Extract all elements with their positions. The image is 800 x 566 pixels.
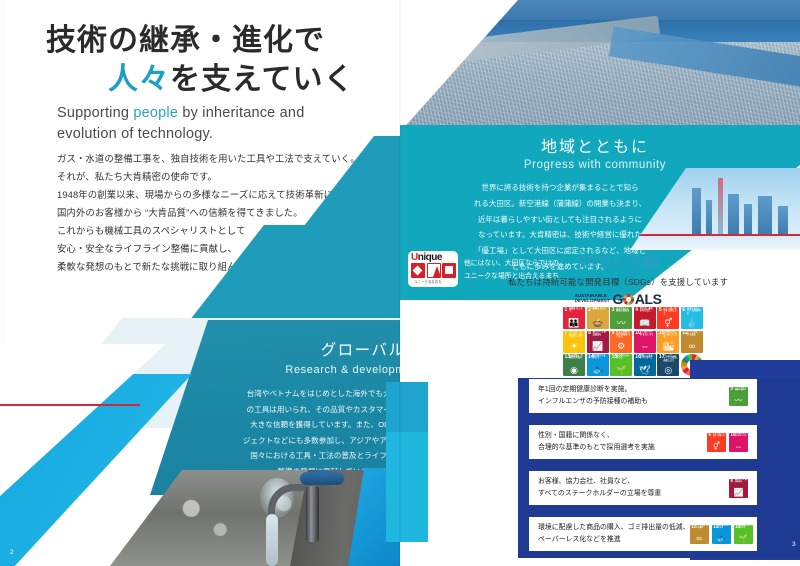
sdg-commitment-line: 年1回の定期健康診断を実施。 [538,384,729,396]
page-number-left: 2 [10,549,14,556]
teal-side-strip-2 [386,432,428,542]
sdg-goal-10-icon: 10人や国の不平等 をなくそう⇔ [729,433,748,452]
headline-line-2: 人々を支えていく [46,60,376,99]
unique-logo-icons [411,263,456,278]
sdg-goal-15-icon: 15陸の豊かさも 守ろう🌱 [610,354,632,376]
sdgs-header: SDGs 活動 私たちは持続可能な開発目標（SDGs）を支援しています SUST… [488,250,748,307]
diamond-icon [411,263,425,278]
sdg-goal-14-icon: 14海の豊かさを 守ろう🐟 [712,525,731,544]
unique-ota-logo: Unique ユニークなおおた [408,251,458,287]
global-body-line: の工具は用いられ、その品質やカスタマイズ性で [180,402,400,418]
sdg-goal-glyph: ∞ [690,535,709,543]
sdg-goal-8-icon: 8働きがいも 経済成長も📈 [587,331,609,353]
sdg-commitment-icons: 5ジェンダー平等を 実現しよう⚥10人や国の不平等 をなくそう⇔ [707,433,757,452]
sdg-goal-glyph: 〰 [729,397,748,405]
sdg-goal-glyph: 🐟 [712,535,731,543]
sdg-goal-6-icon: 6安全な水とトイレ を世界中に💧 [681,307,703,329]
sdg-goal-label: 陸の豊かさも 守ろう [616,355,631,360]
subhead-line-2: evolution of technology. [57,124,377,145]
sdg-goal-3-icon: 3すべての人に 健康と福祉を〰 [729,387,748,406]
sdg-goal-number: 8 [588,331,591,336]
sdg-goal-number: 3 [612,308,615,313]
sdg-goal-number: 5 [709,433,711,437]
sdgs-logo-line-2: DEVELOPMENT [575,299,610,304]
sdg-goal-glyph: 🌱 [734,535,753,543]
subheading-english: Supporting people by inheritance and evo… [57,103,377,144]
sdg-goal-number: 9 [612,331,615,336]
skyline-building [706,200,712,234]
sdg-goal-14-icon: 14海の豊かさを 守ろう🐟 [587,354,609,376]
sdg-goal-glyph: 📖 [634,319,656,328]
sdg-goal-label: 安全な水とトイレ を世界中に [687,308,702,315]
sdg-goal-number: 1 [565,308,568,313]
body-line: ガス・水道の整備工事を、独自技術を用いた工具や工法で支えていく。 [57,150,387,168]
sdg-goal-8-icon: 8働きがいも 経済成長も📈 [729,479,748,498]
sdg-goal-number: 4 [635,308,638,313]
water-stream [266,514,278,566]
sdg-goal-label: 住み続けられる まちづくりを [663,331,678,338]
sdg-goal-15-icon: 15陸の豊かさも 守ろう🌱 [734,525,753,544]
sdg-goal-label: ジェンダー平等を 実現しよう [663,308,678,315]
sdg-goal-glyph: 🏙 [657,342,679,351]
sdg-goal-glyph: 🐟 [587,366,609,375]
sdg-goal-16-icon: 16平和と公正を すべての人に🕊 [634,354,656,376]
sdg-commitment-icons: 3すべての人に 健康と福祉を〰 [729,387,757,406]
unique-logo-rest: nique [418,252,442,263]
sdg-goal-glyph: ◎ [657,366,679,375]
sdg-goal-label: 働きがいも 経済成長も [593,331,608,336]
sdg-commitment-row: 年1回の定期健康診断を実施。インフルエンザの予防接種の補助も3すべての人に 健康… [528,378,758,414]
sdg-commitment-line: インフルエンザの予防接種の補助も [538,396,729,408]
sdg-goal-glyph: 💧 [681,319,703,328]
sdg-commitment-line: 合理的な基準のもとで採用選考を実施 [538,442,707,454]
sdg-goal-5-icon: 5ジェンダー平等を 実現しよう⚥ [657,307,679,329]
sdg-commitment-row: 性別・国籍に関係なく、合理的な基準のもとで採用選考を実施5ジェンダー平等を 実現… [528,424,758,460]
sdg-goal-13-icon: 13気候変動に 具体的な対策を◉ [563,354,585,376]
sdg-commitment-line: 環境に配慮した商品の購入、ゴミ排出量の低減、 [538,522,690,534]
tap-handle [300,472,344,485]
headline-line-1: 技術の継承・進化で [46,22,376,60]
unique-logo-wordmark: Unique [411,252,442,263]
skyline-building [692,188,701,234]
unique-logo-tagline: ユニークなおおた [414,279,442,284]
sdg-goal-label: すべての人に 健康と福祉を [616,308,631,313]
global-body-line: 国々における工具・工法の普及とライフライン [180,448,400,464]
tower-icon [427,263,441,278]
sdg-goal-17-icon: 17パートナーシップで 目標を達成しよう◎ [657,354,679,376]
sdg-goal-label: 平和と公正を すべての人に [640,355,655,360]
sdg-commitment-text: お客様、協力会社、社員など、すべてのステークホルダーの立場を尊重 [529,476,729,500]
global-subtitle: Research & development in Global [255,364,400,376]
goals-als: ALS [635,291,662,307]
sdg-goal-glyph: ⇔ [634,342,656,351]
sdg-goal-4-icon: 4質の高い教育 をみんなに📖 [634,307,656,329]
sdg-commitment-line: ペーパーレス化などを推進 [538,534,690,546]
global-title: グローバル展開 [270,338,400,360]
sdg-goal-label: 人や国の不平等 をなくそう [735,433,747,437]
subhead-highlight: people [133,105,178,121]
sdgs-lead-text: 私たちは持続可能な開発目標（SDGs）を支援しています [488,276,748,288]
headline-line-2-rest: を支えていく [170,63,355,96]
unique-logo-u: U [411,252,418,263]
global-body-line: 台湾やベトナムをはじめとした海外でも大肯精密 [180,386,400,402]
sdg-goal-number: 6 [682,308,685,313]
sdg-goal-label: 人や国の不平等 をなくそう [640,331,655,336]
sdg-goal-11-icon: 11住み続けられる まちづくりを🏙 [657,331,679,353]
sdg-commitment-text: 年1回の定期健康診断を実施。インフルエンザの予防接種の補助も [529,384,729,408]
sdg-goal-12-icon: 12つくる責任 つかう責任∞ [690,525,709,544]
sdg-goal-number: 5 [659,308,662,313]
sdg-commitment-row: お客様、協力会社、社員など、すべてのステークホルダーの立場を尊重8働きがいも 経… [528,470,758,506]
sdgs-color-wheel-icon [623,294,634,305]
sdg-commitment-icons: 8働きがいも 経済成長も📈 [729,479,757,498]
sdg-goal-glyph: ◉ [563,366,585,375]
global-body-line: 大きな信頼を獲得しています。また、ODAプロ [180,417,400,433]
sdg-goal-label: すべての人に 健康と福祉を [735,387,747,391]
sdg-goal-9-icon: 9産業と技術革新の 基盤をつくろう⚙ [610,331,632,353]
sdg-goal-number: 2 [588,308,591,313]
sdg-goal-number: 3 [731,387,733,391]
page-title: 技術の継承・進化で 人々を支えていく [46,22,376,99]
sdg-commitment-row: 環境に配慮した商品の購入、ゴミ排出量の低減、ペーパーレス化などを推進12つくる責… [528,516,758,552]
sdg-goal-glyph: 🌱 [610,366,632,375]
sdg-goal-3-icon: 3すべての人に 健康と福祉を〰 [610,307,632,329]
sdg-goal-5-icon: 5ジェンダー平等を 実現しよう⚥ [707,433,726,452]
tap-body [306,486,319,542]
sdg-goal-glyph: ⇔ [729,443,748,451]
sdg-goal-glyph: 📈 [587,342,609,351]
cube-icon [442,263,456,278]
skyline-ground [630,236,800,250]
sdg-goal-glyph: 📈 [729,489,748,497]
sdg-goal-label: 飢餓を ゼロに [593,308,608,310]
sdg-goal-label: 陸の豊かさも 守ろう [740,525,752,529]
sdg-goal-label: パートナーシップで 目標を達成しよう [663,355,678,362]
global-body-copy: 台湾やベトナムをはじめとした海外でも大肯精密 の工具は用いられ、その品質やカスタ… [180,386,400,479]
sdg-goal-glyph: 🕊 [634,366,656,375]
sdg-goal-number: 8 [731,479,733,483]
sdg-goal-glyph: 〰 [610,319,632,328]
sdg-commitment-icons: 12つくる責任 つかう責任∞14海の豊かさを 守ろう🐟15陸の豊かさも 守ろう🌱 [690,525,762,544]
sdgs-title: SDGs 活動 [488,250,748,272]
sdg-goal-label: 働きがいも 経済成長も [735,479,747,483]
sdg-goal-glyph: 🍲 [587,319,609,328]
sdg-goal-2-icon: 2飢餓を ゼロに🍲 [587,307,609,329]
sdg-goal-glyph: ⚙ [610,342,632,351]
sdg-goal-label: つくる責任 つかう責任 [687,331,702,336]
sdg-goal-number: 7 [565,331,568,336]
sdg-goal-label: ジェンダー平等を 実現しよう [713,433,725,439]
sdg-goal-label: つくる責任 つかう責任 [696,525,708,529]
sdgs-logo-text: SUSTAINABLE DEVELOPMENT [575,294,610,304]
sdg-goal-grid: 1貧困を なくそう👪2飢餓を ゼロに🍲3すべての人に 健康と福祉を〰4質の高い教… [563,307,703,376]
aerial-city-photo [400,0,800,132]
left-page: 技術の継承・進化で 人々を支えていく Supporting people by … [0,0,400,566]
skyline-building [778,206,788,234]
skyline-chimney [718,178,723,234]
skyline-building [758,196,772,234]
skyline-building [744,204,752,234]
sdg-commitment-line: すべてのステークホルダーの立場を尊重 [538,488,729,500]
sdg-goal-glyph: ⚥ [657,319,679,328]
sdg-goal-glyph: ∞ [681,342,703,351]
sdg-goal-10-icon: 10人や国の不平等 をなくそう⇔ [634,331,656,353]
sdg-goal-label: 貧困を なくそう [569,308,584,313]
spread-spine [399,0,401,566]
sdgs-logo: SUSTAINABLE DEVELOPMENT GALS [488,291,748,307]
sdg-goal-12-icon: 12つくる責任 つかう責任∞ [681,331,703,353]
sdg-goal-glyph: 👪 [563,319,585,328]
sdg-commitment-text: 性別・国籍に関係なく、合理的な基準のもとで採用選考を実施 [529,430,707,454]
sdg-commitment-line: 性別・国籍に関係なく、 [538,430,707,442]
sdg-goal-1-icon: 1貧困を なくそう👪 [563,307,585,329]
sdg-goal-label: 海の豊かさを 守ろう [718,525,730,529]
headline-highlight: 人々 [108,63,170,96]
brochure-spread: 技術の継承・進化で 人々を支えていく Supporting people by … [0,0,800,566]
community-title: 地域とともに [460,133,730,157]
sdg-goal-label: 気候変動に 具体的な対策を [569,355,584,360]
sdg-goal-glyph: ☀ [563,342,585,351]
page-number-right: 3 [792,541,796,548]
sdg-goal-label: 海の豊かさを 守ろう [593,355,608,360]
global-body-line: ジェクトなどにも多数参加し、アジアやアフリカの [180,433,400,449]
sdg-goal-7-icon: 7エネルギーをみんなに そしてクリーンに☀ [563,331,585,353]
subhead-pre: Supporting [57,105,133,121]
sdg-commitment-line: お客様、協力会社、社員など、 [538,476,729,488]
sdgs-goals-wordmark: GALS [613,291,662,307]
skyline-building [728,194,739,234]
sdg-goal-label: 産業と技術革新の 基盤をつくろう [616,331,631,338]
goals-g: G [613,291,623,307]
sdg-goal-label: エネルギーをみんなに そしてクリーンに [569,331,584,338]
red-accent-line [0,404,140,406]
sdg-commitment-text: 環境に配慮した商品の購入、ゴミ排出量の低減、ペーパーレス化などを推進 [529,522,690,546]
sdg-goal-label: 質の高い教育 をみんなに [640,308,655,313]
subhead-post: by inheritance and [178,105,304,121]
sdg-goal-glyph: ⚥ [707,443,726,451]
